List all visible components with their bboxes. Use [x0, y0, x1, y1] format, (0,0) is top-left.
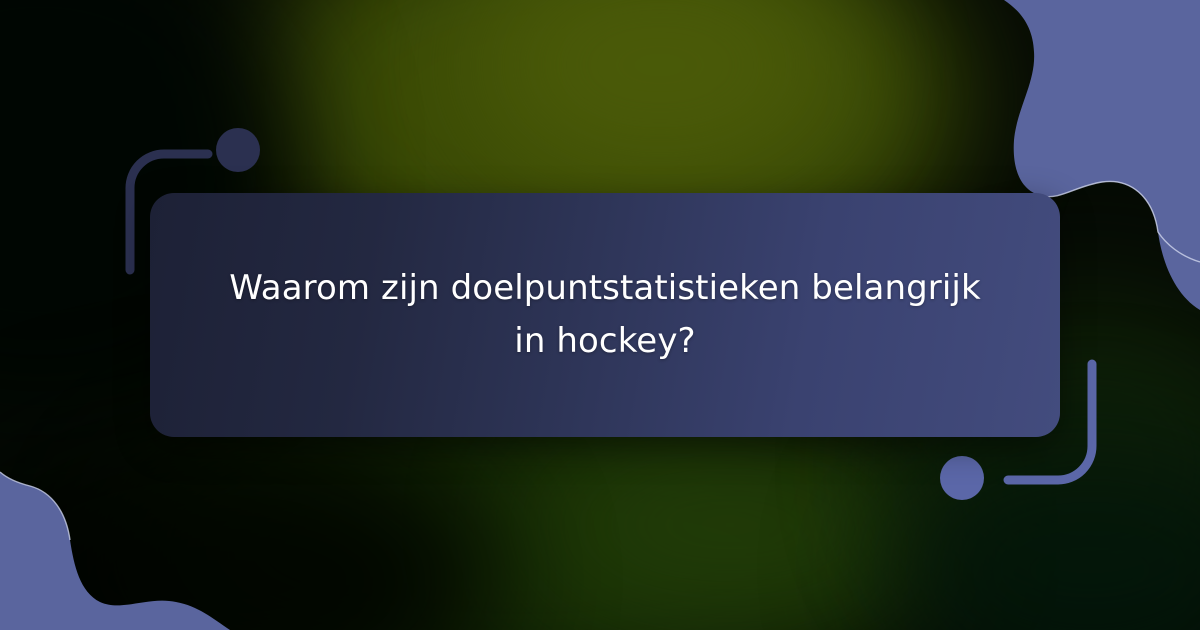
background-blob-green-lower-2: [520, 430, 940, 620]
quote-card: Waarom zijn doelpuntstatistieken belangr…: [150, 193, 1060, 437]
social-quote-card-canvas: Waarom zijn doelpuntstatistieken belangr…: [0, 0, 1200, 630]
quote-text: Waarom zijn doelpuntstatistieken belangr…: [215, 262, 995, 367]
